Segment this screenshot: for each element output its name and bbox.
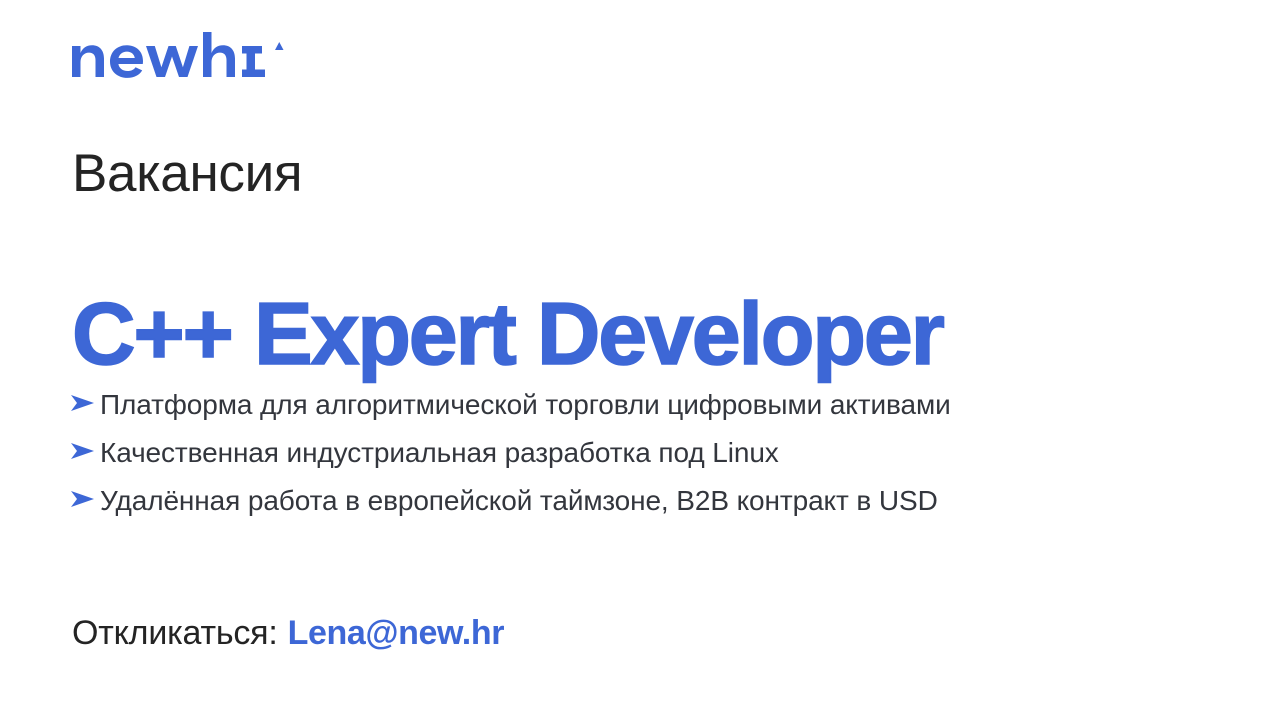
list-item-label: Удалённая работа в европейской таймзоне,… <box>100 484 1190 518</box>
newhr-wordmark-icon <box>72 32 287 78</box>
arrow-right-icon <box>70 394 100 412</box>
list-item: Удалённая работа в европейской таймзоне,… <box>70 484 1190 532</box>
highlights-list: Платформа для алгоритмической торговли ц… <box>70 388 1190 532</box>
page-title: C++ Expert Developer <box>72 281 943 387</box>
vacancy-poster: newhr Вакансия C++ Expert Developer <box>0 0 1266 704</box>
contact-label: Откликаться: <box>72 612 278 654</box>
contact-block: Откликаться: Lena@new.hr <box>72 612 504 654</box>
list-item: Качественная индустриальная разработка п… <box>70 436 1190 484</box>
list-item-label: Качественная индустриальная разработка п… <box>100 436 1190 470</box>
page-kicker: Вакансия <box>72 143 302 205</box>
list-item-label: Платформа для алгоритмической торговли ц… <box>100 388 1190 422</box>
contact-email-link[interactable]: Lena@new.hr <box>288 612 504 654</box>
arrow-right-icon <box>70 442 100 460</box>
list-item: Платформа для алгоритмической торговли ц… <box>70 388 1190 436</box>
brand-logo[interactable]: newhr <box>72 28 287 82</box>
arrow-right-icon <box>70 490 100 508</box>
